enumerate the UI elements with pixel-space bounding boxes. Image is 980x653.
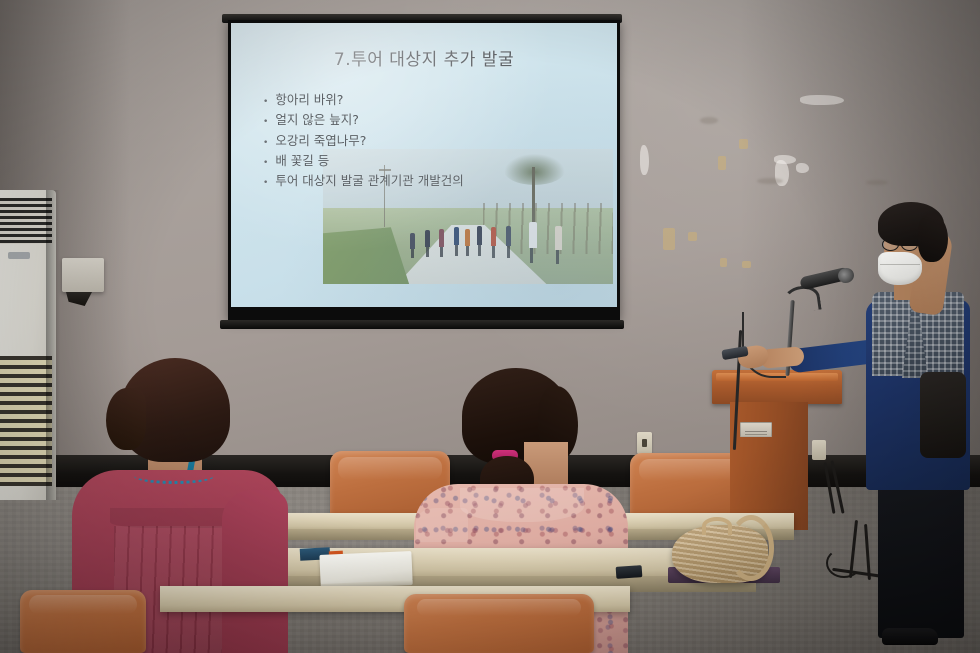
slide-content: 7.투어 대상지 추가 발굴 • 항아리 바위? • 얼지 않은 늪지? •	[231, 23, 617, 307]
slide-bullet-list: • 항아리 바위? • 얼지 않은 늪지? • 오강리 죽엽나무? •	[263, 90, 601, 191]
photo-walker	[555, 226, 562, 250]
slide-bullet-item: • 오강리 죽엽나무?	[263, 131, 601, 151]
photo-walker	[439, 229, 444, 247]
screen-surface: 7.투어 대상지 추가 발굴 • 항아리 바위? • 얼지 않은 늪지? •	[231, 23, 617, 307]
air-conditioner-shadow	[46, 190, 60, 500]
presenter-face-mask	[878, 252, 922, 285]
bullet-text: 오강리 죽엽나무?	[275, 131, 366, 151]
air-conditioner-vent-bottom	[0, 356, 52, 486]
air-conditioner-logo	[8, 252, 30, 259]
presenter-legs	[878, 482, 964, 638]
mobile-phone	[616, 565, 643, 579]
photo-walker	[477, 226, 482, 245]
slide-title: 7.투어 대상지 추가 발굴	[247, 45, 601, 70]
wall-sticker-mark	[800, 95, 844, 105]
wall-scuff	[866, 180, 888, 185]
photo-walker	[410, 233, 415, 249]
wall-outlet	[637, 432, 652, 454]
presenter-shoulder-bag	[920, 372, 966, 458]
photo-walker	[506, 226, 511, 246]
attendee-arm	[222, 490, 288, 653]
slide-bullet-item: • 얼지 않은 늪지?	[263, 110, 601, 130]
slide-bullet-item: • 배 꽃길 등	[263, 151, 601, 171]
wall-tape-mark	[742, 261, 751, 268]
bullet-dot-icon: •	[263, 118, 268, 127]
presenter-shoe	[882, 628, 938, 645]
attendee-collar	[460, 488, 584, 522]
slide-bullet-item: • 투어 대상지 발굴 관계기관 개발건의	[263, 171, 601, 191]
wall-peel-mark	[640, 145, 649, 175]
photo-walker	[454, 227, 459, 245]
attendee-shoulder	[416, 508, 468, 542]
photo-walker	[465, 229, 470, 246]
wall-tape-mark	[718, 156, 726, 170]
presenter	[856, 196, 980, 653]
handout-booklet	[319, 551, 412, 585]
attendee-hair-side	[106, 388, 146, 450]
air-conditioner-vent-top	[0, 198, 52, 244]
bullet-text: 얼지 않은 늪지?	[275, 110, 359, 130]
chair	[404, 594, 594, 653]
wall-tape-mark	[688, 232, 697, 241]
wall-mounted-box	[62, 258, 104, 292]
wall-tape-mark	[720, 258, 727, 267]
presenter-hair-side	[918, 214, 948, 262]
podium	[712, 370, 842, 530]
wall-peel-mark	[796, 163, 809, 173]
seminar-room-scene: 7.투어 대상지 추가 발굴 • 항아리 바위? • 얼지 않은 늪지? •	[0, 0, 980, 653]
chair	[20, 590, 146, 653]
wall-tape-mark	[739, 139, 748, 149]
bullet-dot-icon: •	[263, 139, 268, 148]
bullet-dot-icon: •	[263, 179, 268, 188]
wall-scuff	[700, 117, 718, 124]
projection-screen: 7.투어 대상지 추가 발굴 • 항아리 바위? • 얼지 않은 늪지? •	[228, 14, 620, 326]
air-conditioner	[0, 190, 56, 500]
handbag-knot	[702, 517, 732, 535]
bullet-text: 항아리 바위?	[275, 90, 343, 110]
podium-name-plate	[740, 422, 772, 437]
screen-frame: 7.투어 대상지 추가 발굴 • 항아리 바위? • 얼지 않은 늪지? •	[228, 20, 620, 320]
wall-tape-mark	[663, 228, 675, 250]
handbag	[672, 511, 778, 585]
bullet-text: 배 꽃길 등	[275, 151, 329, 171]
photo-walker	[529, 222, 537, 248]
bullet-text: 투어 대상지 발굴 관계기관 개발건의	[275, 171, 463, 191]
photo-walker	[425, 230, 430, 247]
screen-bottom-bar	[220, 320, 624, 329]
handbag-strap	[728, 515, 774, 581]
bullet-dot-icon: •	[263, 98, 268, 107]
wall-scuff	[757, 178, 783, 184]
photo-walker	[491, 227, 496, 246]
attendee-necklace	[134, 468, 214, 484]
slide-bullet-item: • 항아리 바위?	[263, 90, 601, 110]
bullet-dot-icon: •	[263, 159, 268, 168]
